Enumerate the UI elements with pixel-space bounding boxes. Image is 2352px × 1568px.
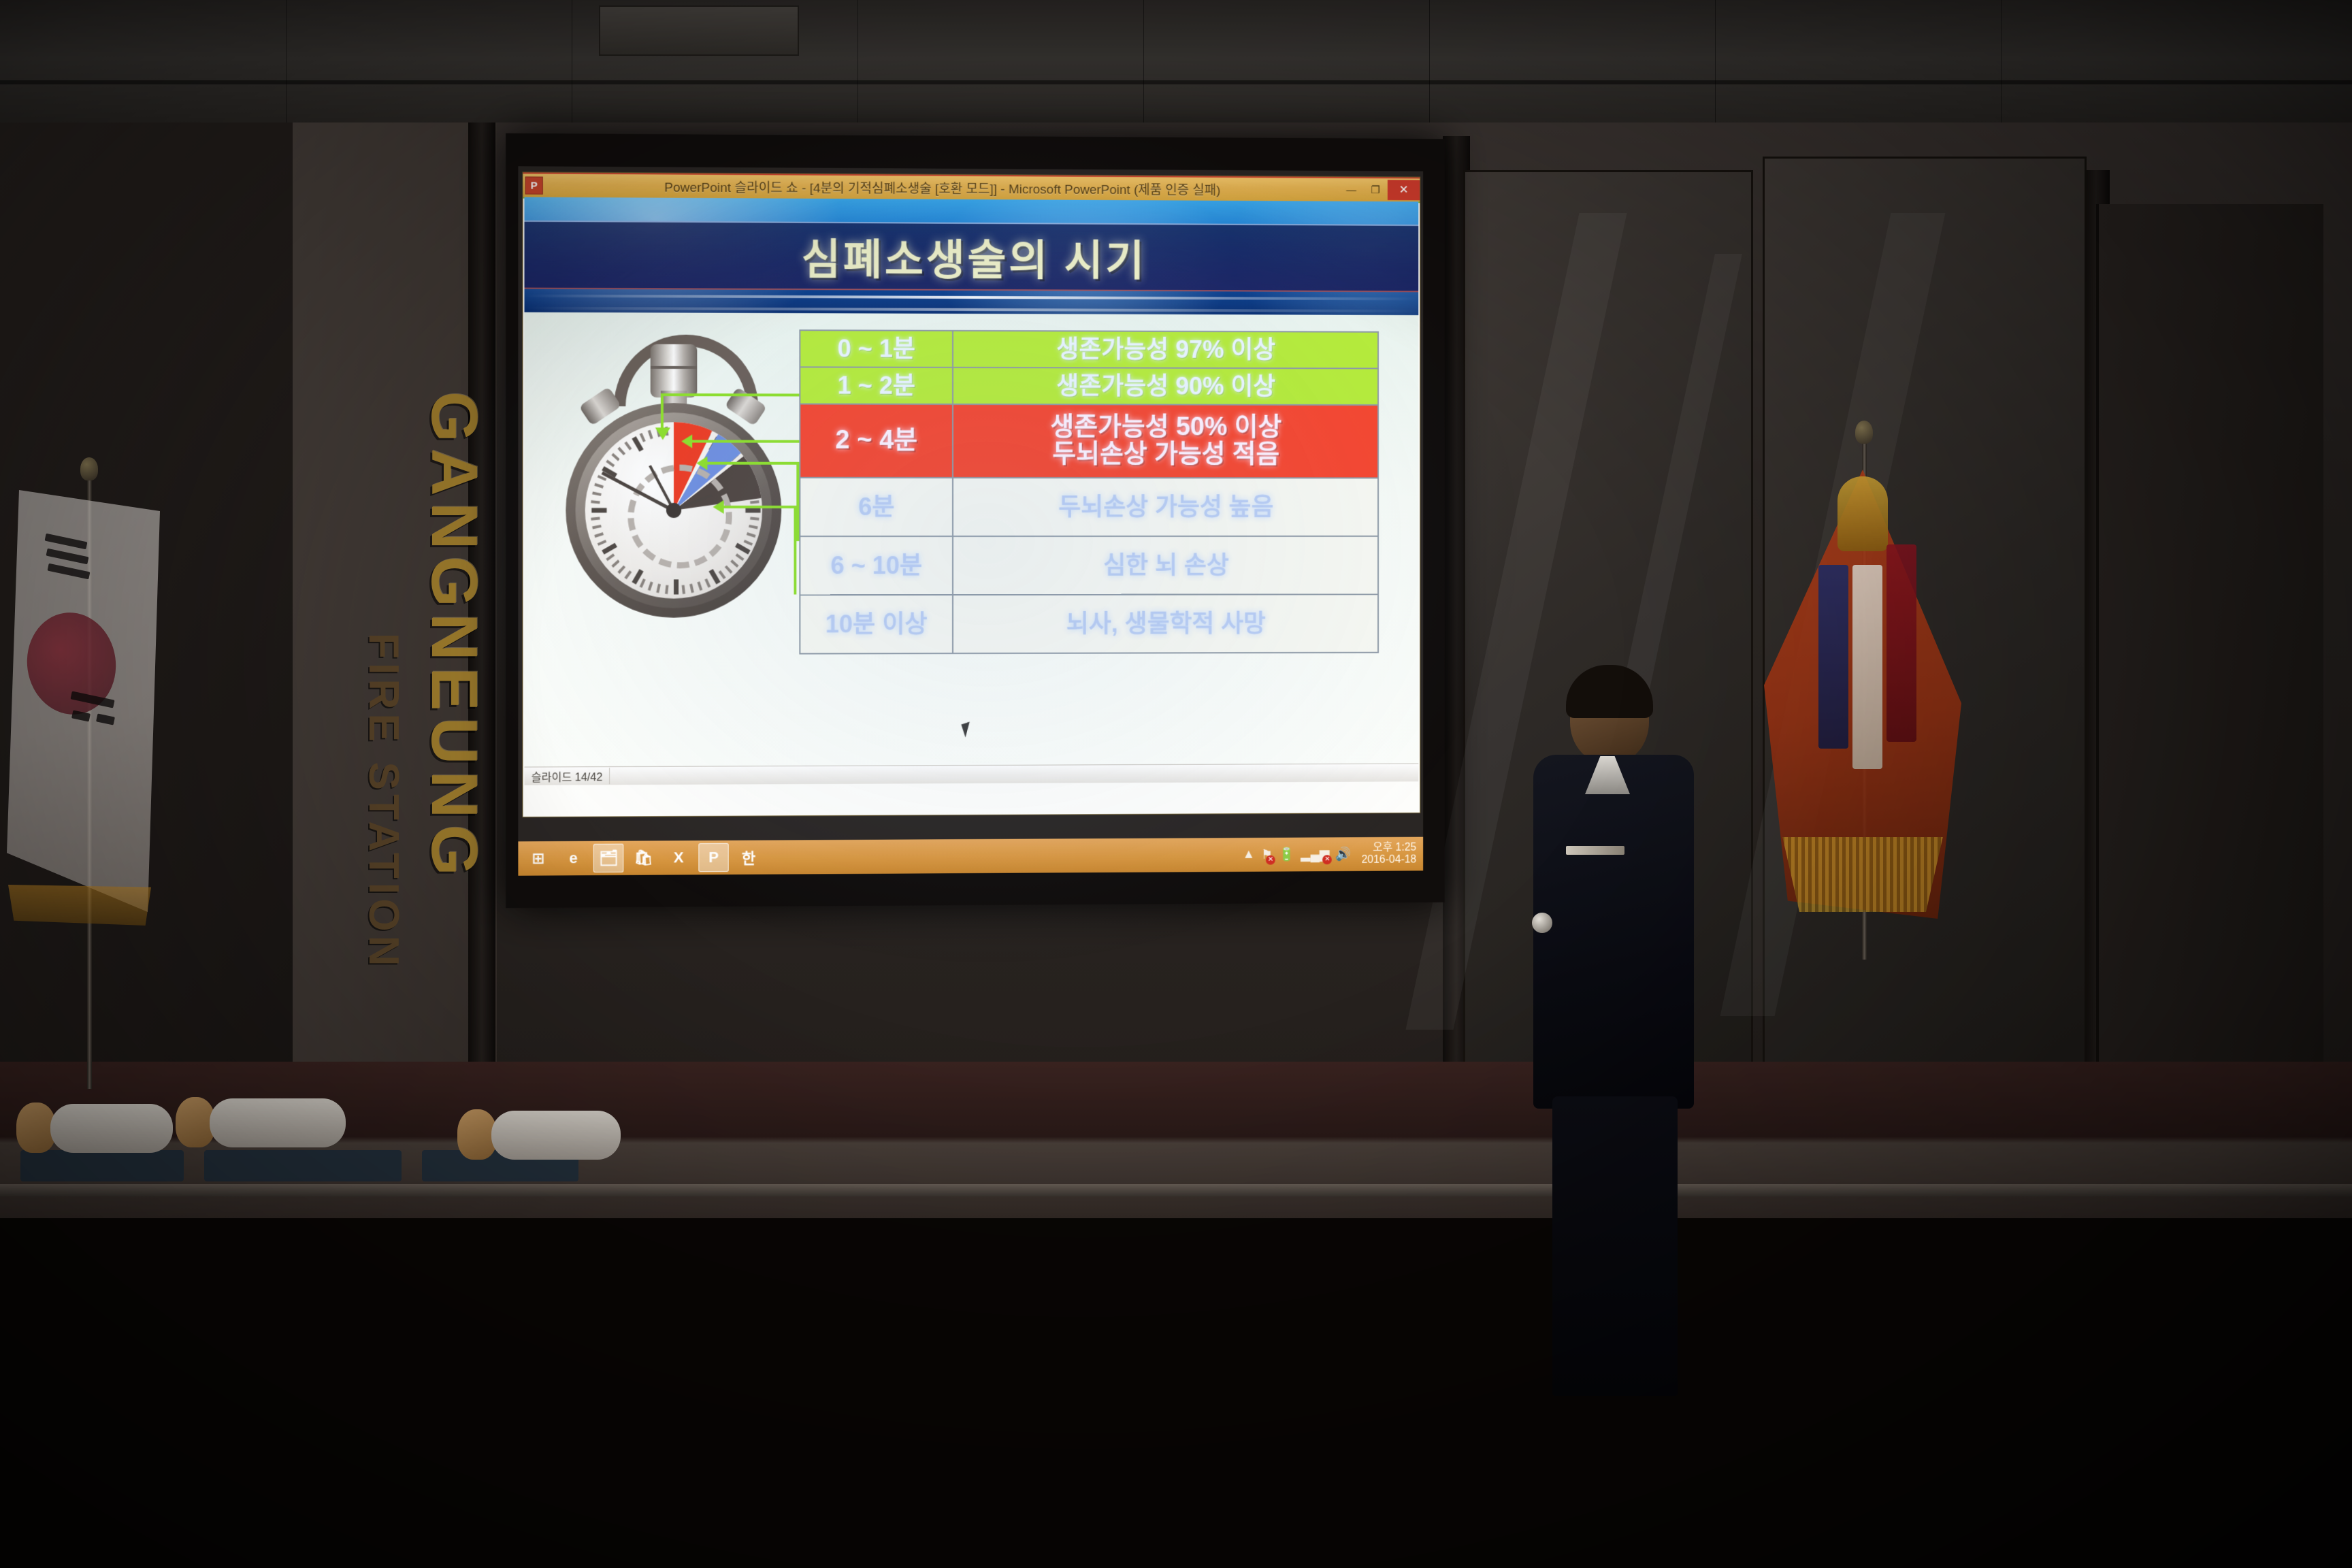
file-explorer-icon[interactable]: 🗂 (593, 844, 623, 872)
slide-counter: 슬라이드 14/42 (525, 768, 610, 785)
stopwatch-tick (747, 532, 756, 538)
action-center-flag-icon[interactable]: ⚑✕ (1261, 847, 1273, 862)
stopwatch-tick (719, 570, 726, 579)
cell-time: 1 ~ 2분 (800, 367, 953, 404)
cell-outcome: 생존가능성 97% 이상 (953, 331, 1378, 369)
internet-explorer-icon[interactable]: e (558, 844, 589, 873)
stopwatch-tick (591, 500, 600, 504)
connector-arrow (655, 427, 670, 440)
table-row: 6 ~ 10분심한 뇌 손상 (800, 536, 1378, 595)
stopwatch-tick (689, 584, 694, 593)
connector-line (689, 440, 802, 442)
close-button[interactable]: ✕ (1388, 180, 1420, 200)
stopwatch-tick (665, 585, 668, 594)
cell-time: 0 ~ 1분 (800, 330, 953, 367)
slide-body: 0 ~ 1분생존가능성 97% 이상1 ~ 2분생존가능성 90% 이상2 ~ … (525, 312, 1419, 783)
projected-desktop: P PowerPoint 슬라이드 쇼 - [4분의 기적심폐소생술 [호환 모… (518, 166, 1423, 876)
stopwatch-tick (611, 453, 619, 461)
cell-time: 6분 (800, 478, 953, 536)
table-row: 10분 이상뇌사, 생물학적 사망 (800, 594, 1378, 653)
cpr-timing-table: 0 ~ 1분생존가능성 97% 이상1 ~ 2분생존가능성 90% 이상2 ~ … (799, 329, 1379, 654)
powerpoint-logo-icon: P (525, 176, 543, 194)
stopwatch-inner-dial (627, 465, 732, 569)
stopwatch-tick (648, 581, 653, 591)
name-badge (1566, 846, 1624, 855)
hangul-icon[interactable]: 한 (734, 843, 764, 872)
cell-outcome: 두뇌손상 가능성 높음 (953, 478, 1378, 536)
error-badge-icon: ✕ (1323, 855, 1333, 864)
stopwatch-tick (592, 525, 602, 529)
powerpoint-window[interactable]: P PowerPoint 슬라이드 쇼 - [4분의 기적심폐소생술 [호환 모… (522, 171, 1420, 817)
start-button[interactable]: ⊞ (523, 844, 553, 873)
stopwatch-tick (736, 553, 745, 561)
stopwatch-tick (656, 584, 661, 593)
cell-time: 6 ~ 10분 (800, 536, 953, 595)
stopwatch-tick (617, 566, 625, 574)
slide-title-band: 심폐소생술의 시기 (525, 220, 1419, 292)
stopwatch-tick (640, 578, 646, 588)
stopwatch-tick (617, 447, 625, 455)
stopwatch-tick (745, 508, 760, 512)
table-row: 6분두뇌손상 가능성 높음 (800, 478, 1378, 536)
stopwatch-tick (682, 585, 685, 594)
stopwatch-icon (560, 331, 787, 626)
connector-line (661, 393, 664, 429)
stopwatch-tick (750, 500, 759, 504)
banner-ribbon-white (1852, 565, 1882, 769)
stopwatch-tick (725, 566, 733, 574)
excel-icon[interactable]: X (664, 843, 693, 872)
connector-arrow (681, 434, 692, 448)
error-badge-icon: ✕ (1266, 855, 1275, 864)
volume-icon[interactable]: 🔊 (1335, 846, 1351, 862)
clock-date: 2016-04-18 (1362, 854, 1417, 866)
stopwatch-tick (591, 508, 606, 512)
restore-button[interactable]: ❐ (1363, 181, 1388, 199)
ceiling-vent (599, 5, 799, 56)
banner-finial (1855, 421, 1873, 444)
cell-outcome: 심한 뇌 손상 (953, 536, 1378, 595)
cell-outcome: 생존가능성 50% 이상 두뇌손상 가능성 적음 (953, 404, 1378, 478)
stopwatch-tick (750, 517, 759, 520)
stopwatch-pin (666, 503, 681, 518)
connector-arrow (696, 457, 707, 470)
show-hidden-icons-button[interactable]: ▲ (1242, 847, 1255, 862)
stopwatch-tick (602, 543, 617, 555)
stopwatch-tick (749, 525, 758, 529)
stopwatch-tick (594, 532, 604, 538)
window-title: PowerPoint 슬라이드 쇼 - [4분의 기적심폐소생술 [호환 모드]… (543, 176, 1339, 199)
connector-line (794, 506, 796, 594)
stopwatch-tick (611, 559, 619, 568)
minimize-button[interactable]: — (1339, 181, 1364, 199)
table-row: 1 ~ 2분생존가능성 90% 이상 (800, 367, 1378, 405)
stopwatch-tick (704, 578, 710, 588)
audience-seating (0, 905, 2352, 1568)
banner-ribbon-red (1886, 544, 1916, 742)
battery-icon[interactable]: 🔋 (1279, 847, 1294, 863)
cell-time: 2 ~ 4분 (800, 404, 953, 478)
connector-line (661, 393, 805, 396)
stopwatch-tick (624, 442, 632, 451)
clock-time: 오후 1:25 (1373, 841, 1416, 853)
slide-header-band: 심폐소생술의 시기 (525, 197, 1419, 315)
stopwatch-tick (730, 559, 738, 568)
cell-outcome: 생존가능성 90% 이상 (953, 367, 1378, 405)
connector-line (721, 506, 797, 508)
stopwatch-tick (606, 460, 615, 468)
stopwatch-tick (592, 491, 602, 496)
slide-canvas: 심폐소생술의 시기 (525, 197, 1419, 783)
table-row: 0 ~ 1분생존가능성 97% 이상 (800, 330, 1378, 368)
stopwatch-tick (648, 430, 653, 440)
windows-store-icon[interactable]: 🛍 (628, 843, 658, 872)
cell-time: 10분 이상 (800, 595, 953, 654)
table-row: 2 ~ 4분생존가능성 50% 이상 두뇌손상 가능성 적음 (800, 404, 1378, 478)
stopwatch-tick (744, 540, 753, 546)
stopwatch-tick (697, 581, 702, 591)
mouse-cursor (961, 720, 978, 737)
banner-tassel (1837, 476, 1888, 551)
connector-line (704, 462, 799, 465)
stopwatch-tick (606, 553, 615, 561)
stopwatch-tick (594, 483, 604, 489)
network-icon[interactable]: ▂▄▆✕ (1301, 847, 1329, 862)
cell-outcome: 뇌사, 생물학적 사망 (953, 594, 1378, 653)
connector-arrow (713, 500, 724, 514)
venue-sign-gangneung: GANGNEUNG (416, 391, 491, 882)
stopwatch-tick (624, 570, 632, 579)
stopwatch-tick (674, 579, 679, 594)
powerpoint-statusbar: 슬라이드 14/42 (525, 764, 1419, 785)
system-tray[interactable]: ▲ ⚑✕🔋▂▄▆✕🔊 오후 1:25 2016-04-18 (1242, 841, 1423, 867)
window-controls[interactable]: — ❐ ✕ (1339, 178, 1420, 201)
flag-finial (80, 457, 98, 480)
projection-screen: P PowerPoint 슬라이드 쇼 - [4분의 기적심폐소생술 [호환 모… (506, 133, 1445, 908)
stopwatch-tick (598, 540, 607, 546)
windows-taskbar[interactable]: ⊞e🗂🛍XP한 ▲ ⚑✕🔋▂▄▆✕🔊 오후 1:25 2016-04-18 (518, 837, 1423, 876)
stopwatch-tick (591, 517, 600, 520)
banner-ribbon-blue (1818, 565, 1848, 749)
lecture-room: GANGNEUNG FIRE STATION P PowerPoint 슬라이드… (0, 0, 2352, 1568)
taskbar-clock[interactable]: 오후 1:25 2016-04-18 (1362, 841, 1417, 866)
slide-title: 심폐소생술의 시기 (802, 225, 1147, 288)
stopwatch-tick (735, 543, 751, 555)
powerpoint-icon[interactable]: P (698, 843, 728, 872)
stopwatch-tick (640, 433, 646, 442)
